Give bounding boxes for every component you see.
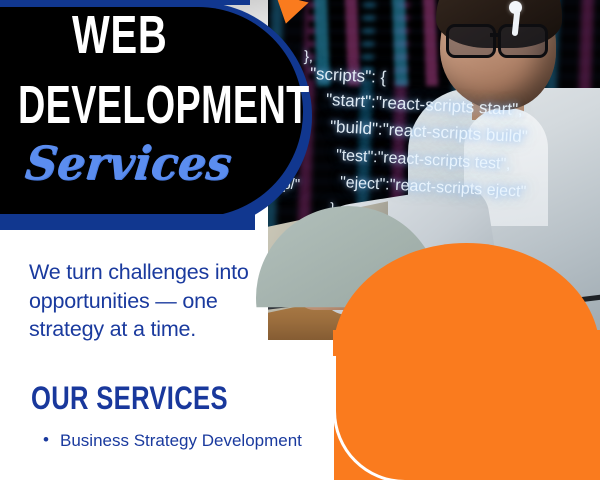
title-script-services: Services xyxy=(23,140,233,186)
white-strip xyxy=(318,356,334,480)
tagline-text: We turn challenges into opportunities — … xyxy=(29,258,297,344)
services-list: Business Strategy Development xyxy=(40,430,310,456)
title-line-web: WEB xyxy=(72,8,167,62)
services-heading: OUR SERVICES xyxy=(31,380,228,417)
title-line-development: DEVELOPMENT xyxy=(18,78,310,132)
list-item: Business Strategy Development xyxy=(60,430,310,452)
eyeglass-lens-right xyxy=(498,24,548,58)
eyeglasses-icon xyxy=(446,24,554,54)
eyeglass-lens-left xyxy=(446,24,496,58)
header-title-group: WEB DEVELOPMENT Services xyxy=(0,0,320,228)
poster-canvas: }, "scripts": { "start":"react-scripts s… xyxy=(0,0,600,480)
